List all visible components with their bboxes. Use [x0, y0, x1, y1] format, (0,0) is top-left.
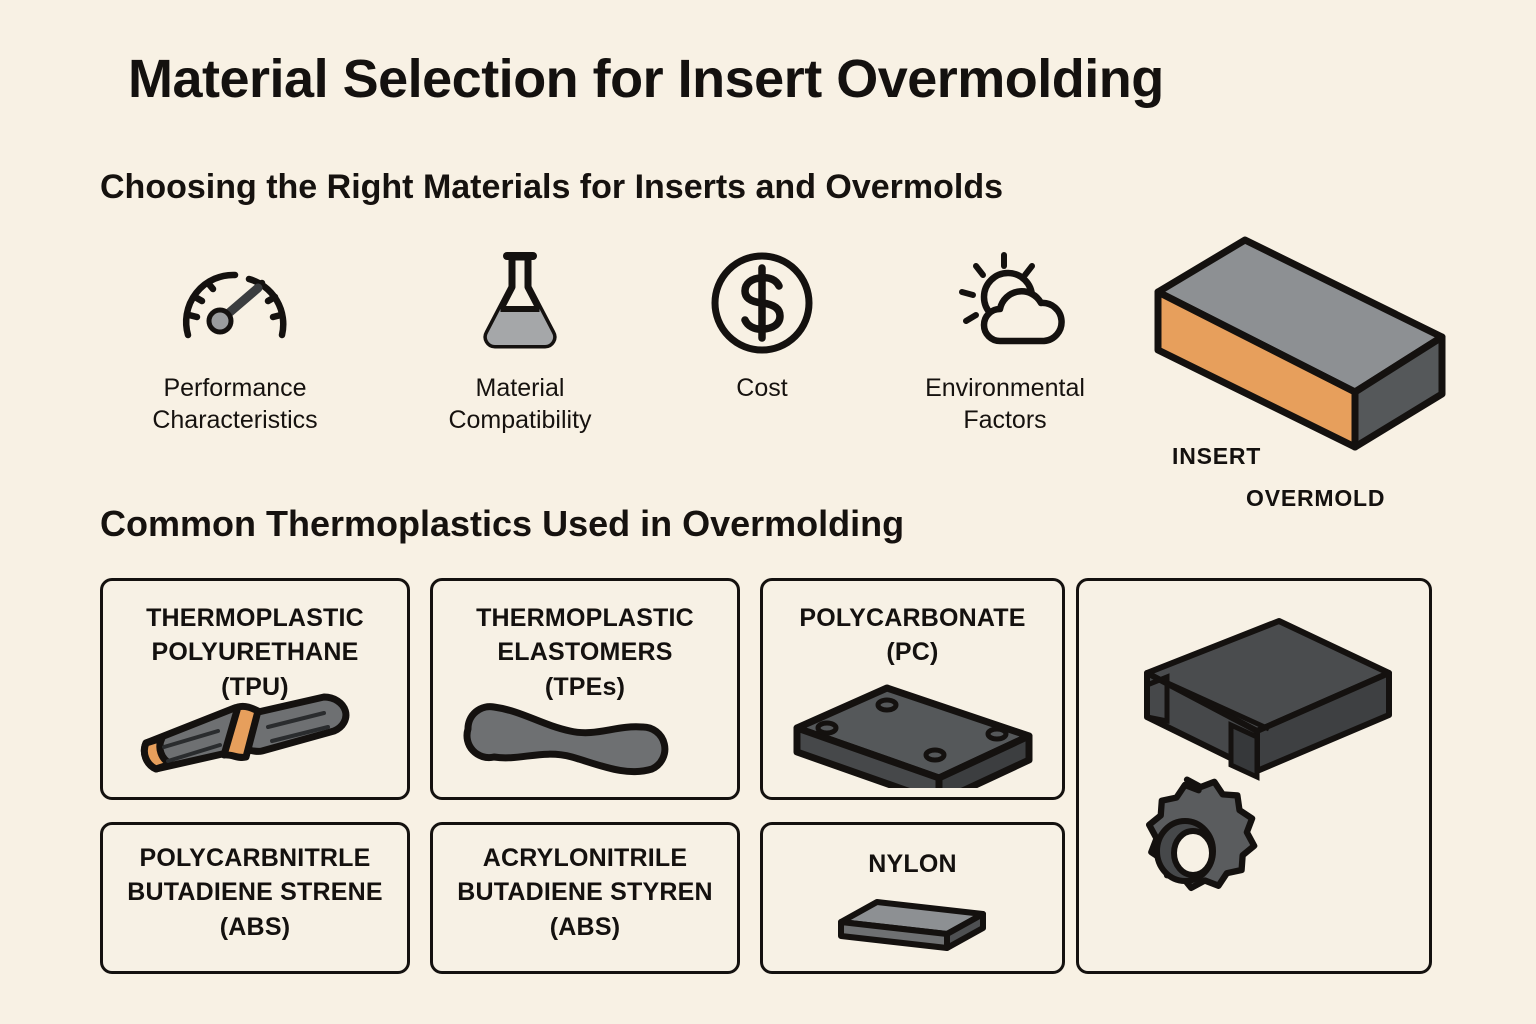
gauge-icon	[110, 240, 360, 365]
material-card-abs-2[interactable]: ACRYLONITRILE BUTADIENE STYREN (ABS)	[430, 822, 740, 974]
bar-stock-icon	[763, 887, 1062, 963]
feature-label: Material Compatibility	[395, 373, 645, 436]
page-title: Material Selection for Insert Overmoldin…	[128, 48, 1164, 110]
feature-environmental-factors: Environmental Factors	[880, 240, 1130, 436]
page-subtitle: Choosing the Right Materials for Inserts…	[100, 168, 1003, 207]
tool-handle-icon	[103, 677, 407, 789]
infographic-page: Material Selection for Insert Overmoldin…	[0, 0, 1536, 1024]
material-card-tpu[interactable]: THERMOPLASTIC POLYURETHANE (TPU)	[100, 578, 410, 800]
gear-icon	[1149, 780, 1254, 888]
section-title: Common Thermoplastics Used in Overmoldin…	[100, 503, 904, 545]
panel-art	[1079, 581, 1429, 971]
overmolded-parts-panel	[1076, 578, 1432, 974]
housing-block-icon	[1147, 621, 1389, 777]
dollar-coin-icon	[637, 240, 887, 365]
material-card-title: POLYCARBNITRLE BUTADIENE STRENE (ABS)	[103, 841, 407, 944]
material-card-nylon[interactable]: NYLON	[760, 822, 1065, 974]
overmold-label: OVERMOLD	[1246, 485, 1385, 512]
enclosure-icon	[763, 677, 1062, 789]
material-card-pc[interactable]: POLYCARBONATE (PC)	[760, 578, 1065, 800]
insert-label: INSERT	[1172, 443, 1261, 470]
flask-icon	[395, 240, 645, 365]
insert-overmold-block-diagram	[1150, 232, 1450, 522]
material-card-title: NYLON	[763, 847, 1062, 881]
feature-label: Performance Characteristics	[110, 373, 360, 436]
gasket-seal-icon	[433, 677, 737, 789]
feature-material-compatibility: Material Compatibility	[395, 240, 645, 436]
sun-cloud-icon	[880, 240, 1130, 365]
feature-cost: Cost	[637, 240, 887, 405]
material-card-title: POLYCARBONATE (PC)	[763, 601, 1062, 670]
feature-performance-characteristics: Performance Characteristics	[110, 240, 360, 436]
feature-label: Cost	[637, 373, 887, 405]
material-card-tpe[interactable]: THERMOPLASTIC ELASTOMERS (TPEs)	[430, 578, 740, 800]
material-card-abs-1[interactable]: POLYCARBNITRLE BUTADIENE STRENE (ABS)	[100, 822, 410, 974]
material-card-title: ACRYLONITRILE BUTADIENE STYREN (ABS)	[433, 841, 737, 944]
feature-label: Environmental Factors	[880, 373, 1130, 436]
